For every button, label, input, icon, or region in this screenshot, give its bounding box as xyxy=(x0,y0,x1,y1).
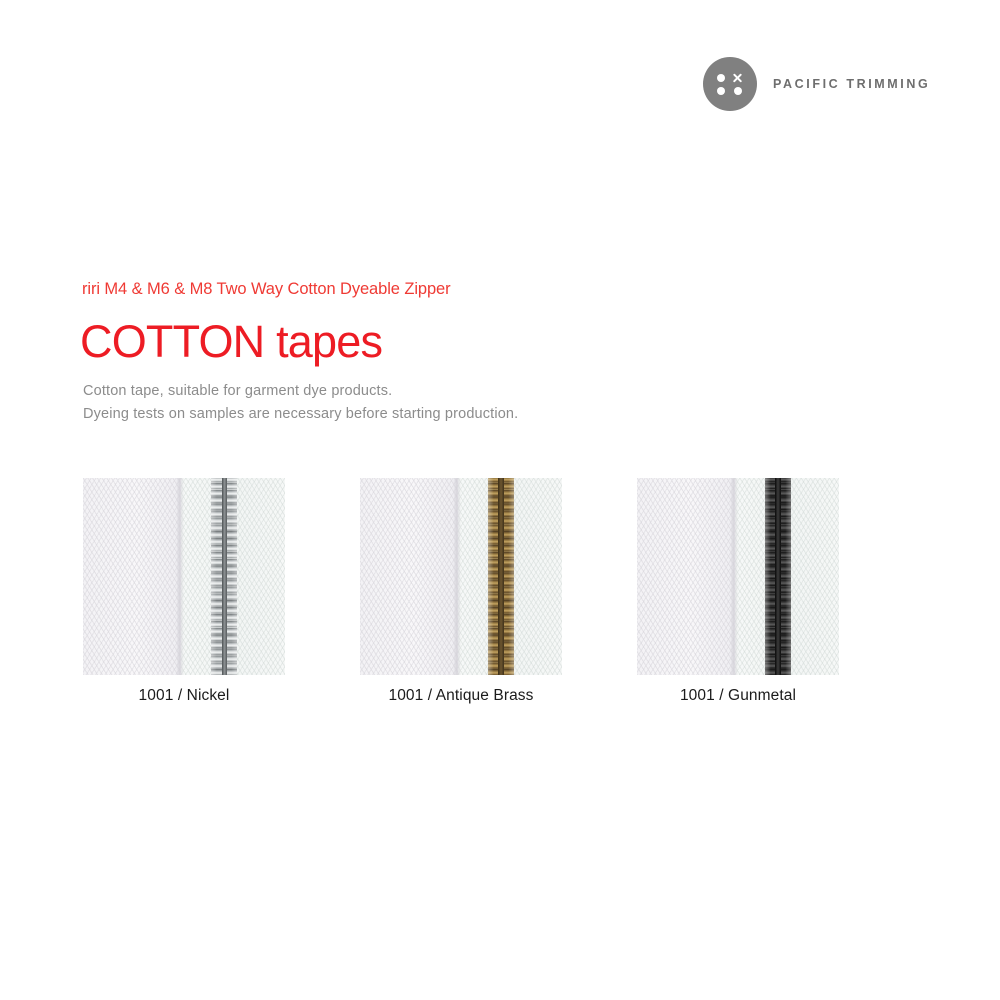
zipper-sample-image-antique-brass xyxy=(360,478,562,675)
swatch-item[interactable]: 1001 / Nickel xyxy=(83,478,285,705)
description-line-2: Dyeing tests on samples are necessary be… xyxy=(83,403,518,426)
brand-header: PACIFIC TRIMMING xyxy=(703,57,930,111)
cotton-tape-left xyxy=(360,478,458,675)
page-title-strong: COTTON xyxy=(80,316,264,367)
cotton-tape-left xyxy=(83,478,181,675)
zipper-spine xyxy=(498,478,504,675)
swatch-item[interactable]: 1001 / Gunmetal xyxy=(637,478,839,705)
button-four-hole-icon xyxy=(703,57,757,111)
swatch-caption: 1001 / Gunmetal xyxy=(637,687,839,705)
swatch-item[interactable]: 1001 / Antique Brass xyxy=(360,478,562,705)
swatch-caption: 1001 / Antique Brass xyxy=(360,687,562,705)
cotton-tape-left xyxy=(637,478,735,675)
page-title: COTTON tapes xyxy=(80,316,382,368)
zipper-chain-gunmetal xyxy=(765,478,791,675)
button-hole-top-left xyxy=(717,74,725,82)
swatch-row: 1001 / Nickel 1001 / Antique Brass xyxy=(83,478,918,705)
tape-seam xyxy=(730,478,738,675)
product-description: Cotton tape, suitable for garment dye pr… xyxy=(83,380,518,425)
zipper-chain-antique-brass xyxy=(488,478,514,675)
swatch-caption: 1001 / Nickel xyxy=(83,687,285,705)
zipper-spine xyxy=(222,478,227,675)
button-hole-bottom-right xyxy=(734,87,742,95)
tape-seam xyxy=(176,478,184,675)
zipper-chain-nickel xyxy=(211,478,237,675)
brand-name: PACIFIC TRIMMING xyxy=(773,77,930,91)
tape-seam xyxy=(453,478,461,675)
description-line-1: Cotton tape, suitable for garment dye pr… xyxy=(83,380,518,403)
product-eyebrow: riri M4 & M6 & M8 Two Way Cotton Dyeable… xyxy=(82,280,451,299)
zipper-spine xyxy=(775,478,781,675)
zipper-sample-image-gunmetal xyxy=(637,478,839,675)
page-title-light: tapes xyxy=(264,316,382,367)
button-hole-x-icon xyxy=(732,72,743,83)
button-hole-bottom-left xyxy=(717,87,725,95)
zipper-sample-image-nickel xyxy=(83,478,285,675)
